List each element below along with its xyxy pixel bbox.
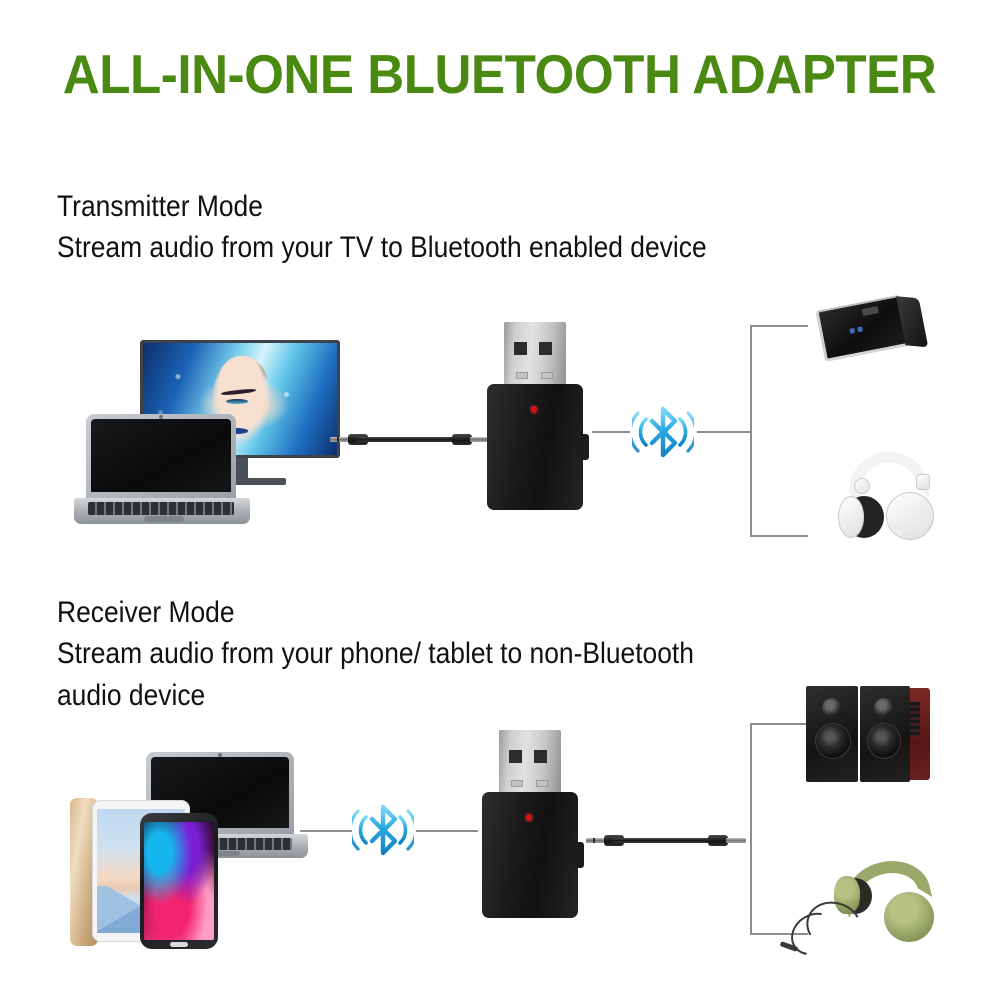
aux-cable-transmitter xyxy=(330,432,490,446)
aux-barrel-right-rx xyxy=(708,835,728,846)
adapter-led-indicator xyxy=(531,406,537,413)
usb-contact-hole-left xyxy=(514,342,527,355)
transmitter-mode-description: Stream audio from your TV to Bluetooth e… xyxy=(57,227,707,268)
bookshelf-speakers xyxy=(806,686,936,786)
adapter-body-receiver xyxy=(482,792,578,918)
aux-tip-left xyxy=(330,437,350,442)
bracket-arm-top-rx xyxy=(750,723,808,725)
adapter-audio-port-receiver xyxy=(575,842,584,868)
headphones-hinge-right xyxy=(916,474,930,490)
speaker-indicator-light xyxy=(849,328,855,334)
aux-wire xyxy=(356,437,464,442)
transmitter-mode-heading: Transmitter Mode xyxy=(57,186,707,227)
laptop-trackpad xyxy=(144,516,184,522)
adapter-led-indicator-receiver xyxy=(526,814,532,821)
wired-headphones-right-cup xyxy=(884,892,934,942)
connector-line-devices-to-bt-rx xyxy=(300,830,352,832)
aux-ring-left xyxy=(337,437,339,442)
bluetooth-speaker xyxy=(815,290,934,370)
wired-headphones xyxy=(820,862,950,962)
page-title: ALL-IN-ONE BLUETOOTH ADAPTER xyxy=(35,42,964,106)
speaker-tweeter-right xyxy=(874,698,894,718)
usb-notch-left xyxy=(516,372,528,379)
smartphone xyxy=(140,813,218,949)
receiver-mode-description: Stream audio from your phone/ tablet to … xyxy=(57,633,694,674)
bracket-arm-bottom-tx xyxy=(750,535,808,537)
usb-contact-hole-left-receiver xyxy=(509,750,522,763)
speaker-tweeter-left xyxy=(822,698,842,718)
wireless-headphones xyxy=(838,452,948,548)
laptop-keyboard xyxy=(88,502,234,515)
aux-tip-right-rx xyxy=(726,838,746,843)
receiver-mode-description-line2: audio device xyxy=(57,675,694,716)
adapter-audio-port xyxy=(580,434,589,460)
usb-contact-hole-right-receiver xyxy=(534,750,547,763)
usb-bluetooth-adapter-transmitter xyxy=(487,322,591,512)
usb-contact-hole-right xyxy=(539,342,552,355)
smartphone-screen xyxy=(144,822,214,940)
receiver-mode-heading: Receiver Mode xyxy=(57,592,694,633)
laptop-screen xyxy=(91,419,231,492)
bracket-arm-top-tx xyxy=(750,325,808,327)
aux-cable-receiver xyxy=(586,833,746,847)
speaker-woofer-right xyxy=(868,724,900,758)
usb-notch-right xyxy=(541,372,553,379)
speaker-woofer-left xyxy=(816,724,850,758)
headphones-right-cup xyxy=(886,492,934,540)
smartphone-home-button xyxy=(170,942,188,947)
headphones-hinge-left xyxy=(854,478,870,494)
usb-notch-right-receiver xyxy=(536,780,548,787)
bluetooth-icon-transmitter xyxy=(632,404,694,460)
bracket-vertical-rx xyxy=(750,723,752,935)
adapter-body xyxy=(487,384,583,510)
aux-wire-rx xyxy=(612,838,720,843)
laptop-lid xyxy=(86,414,236,500)
speaker-port-vent xyxy=(910,702,920,736)
aux-ring-left-rx xyxy=(593,838,595,843)
laptop-camera xyxy=(159,415,163,419)
usb-bluetooth-adapter-receiver xyxy=(482,730,586,920)
aux-tip-left-rx xyxy=(586,838,606,843)
headphones-left-cup xyxy=(838,496,864,538)
connector-line-bt-to-adapter-rx xyxy=(416,830,478,832)
aux-barrel-right xyxy=(452,434,472,445)
laptop-transmitter xyxy=(74,414,274,524)
speaker-indicator-light-2 xyxy=(857,326,863,332)
receiver-mode-block: Receiver Mode Stream audio from your pho… xyxy=(57,592,781,716)
transmitter-mode-block: Transmitter Mode Stream audio from your … xyxy=(57,186,795,269)
bracket-vertical-tx xyxy=(750,325,752,537)
tv-artwork-eye xyxy=(226,399,247,404)
connector-line-adapter-to-bt-tx xyxy=(592,431,630,433)
usb-notch-left-receiver xyxy=(511,780,523,787)
bracket-stem-tx xyxy=(697,431,752,433)
bluetooth-icon-receiver xyxy=(352,802,414,858)
laptop-camera-receiver xyxy=(218,753,222,757)
